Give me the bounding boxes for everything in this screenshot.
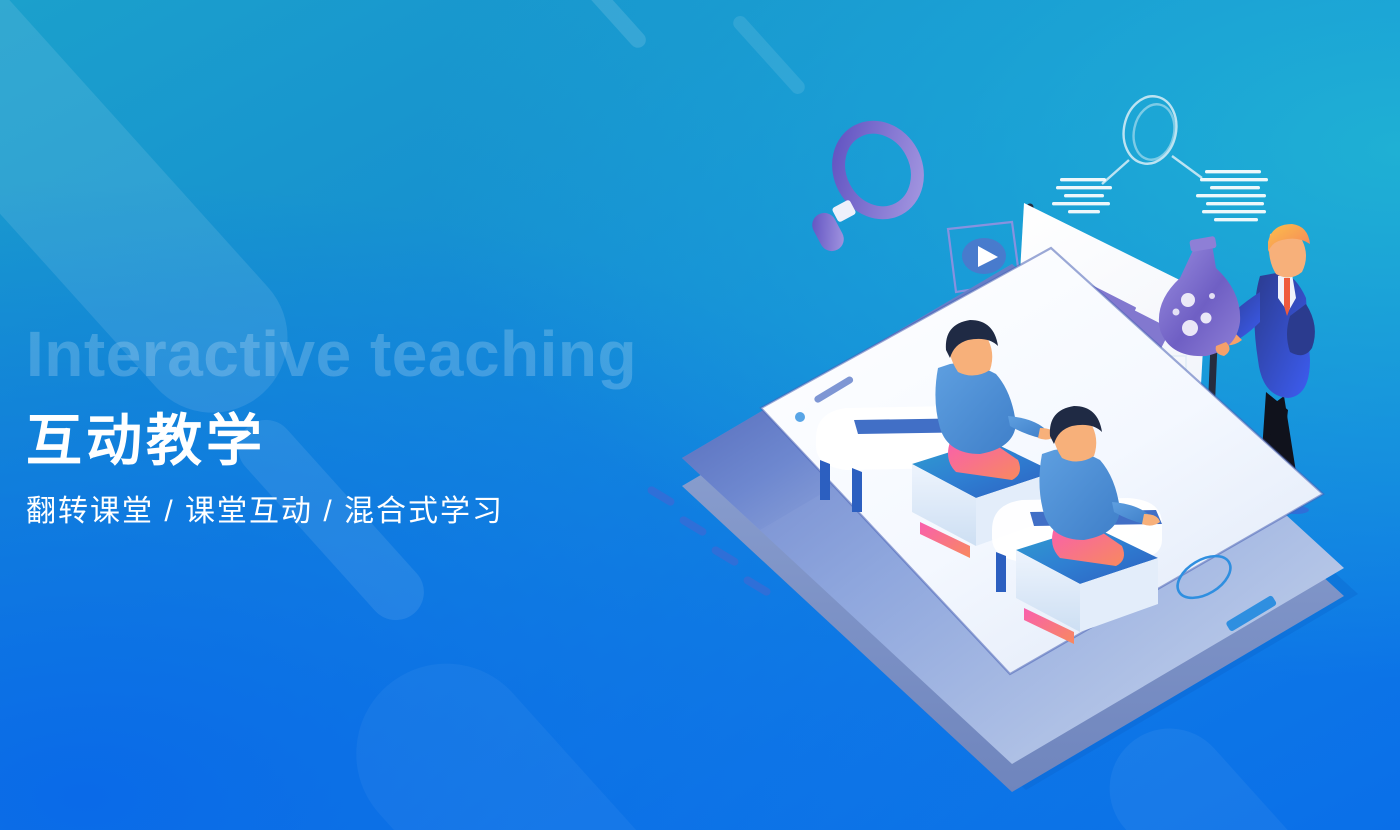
magnifier-icon	[808, 113, 932, 255]
annotation-loop-icon	[1102, 91, 1202, 184]
flask-icon	[1159, 236, 1240, 356]
ghost-headline: Interactive teaching	[26, 322, 786, 386]
banner-subtitle: 翻转课堂 / 课堂互动 / 混合式学习	[26, 494, 786, 530]
page-title: 互动教学	[26, 410, 786, 472]
banner-copy: Interactive teaching 互动教学 翻转课堂 / 课堂互动 / …	[26, 322, 786, 530]
decorative-capsule-small-a	[537, 0, 649, 51]
hero-banner: Interactive teaching 互动教学 翻转课堂 / 课堂互动 / …	[0, 0, 1400, 830]
annotation-text-lines-right	[1196, 170, 1268, 221]
camera-dot	[795, 412, 805, 422]
